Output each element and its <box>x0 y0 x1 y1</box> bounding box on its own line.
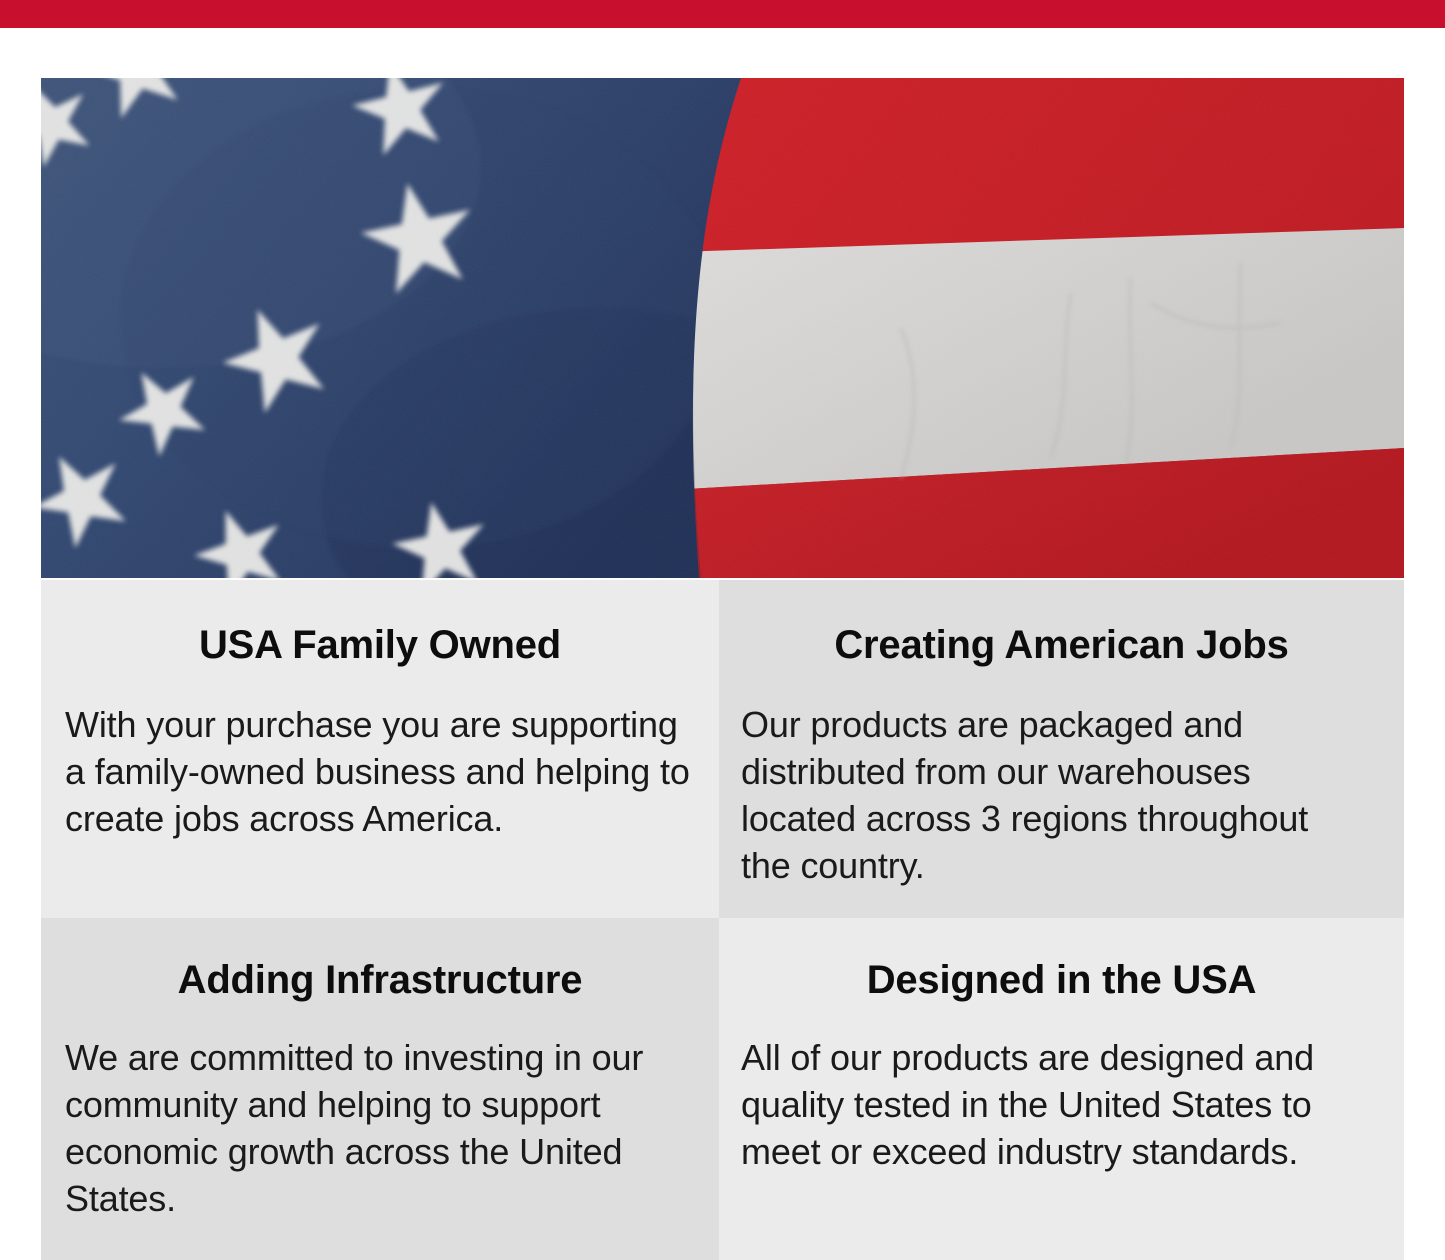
feature-title: Designed in the USA <box>719 918 1404 1000</box>
flag-illustration <box>41 78 1404 578</box>
feature-title: Adding Infrastructure <box>41 918 719 1000</box>
feature-cell-creating-american-jobs: Creating American Jobs Our products are … <box>719 580 1404 918</box>
feature-body: Our products are packaged and distribute… <box>719 665 1351 889</box>
feature-cell-designed-in-the-usa: Designed in the USA All of our products … <box>719 918 1404 1260</box>
feature-body: With your purchase you are supporting a … <box>41 665 705 842</box>
american-flag-photo <box>41 78 1404 578</box>
feature-grid: USA Family Owned With your purchase you … <box>41 580 1404 1260</box>
feature-body: All of our products are designed and qua… <box>719 1000 1366 1175</box>
feature-title: USA Family Owned <box>41 580 719 665</box>
feature-title: Creating American Jobs <box>719 580 1404 665</box>
feature-body: We are committed to investing in our com… <box>41 1000 685 1222</box>
top-accent-bar <box>0 0 1445 28</box>
feature-cell-usa-family-owned: USA Family Owned With your purchase you … <box>41 580 719 918</box>
feature-cell-adding-infrastructure: Adding Infrastructure We are committed t… <box>41 918 719 1260</box>
page-root: USA Family Owned With your purchase you … <box>0 0 1445 1260</box>
